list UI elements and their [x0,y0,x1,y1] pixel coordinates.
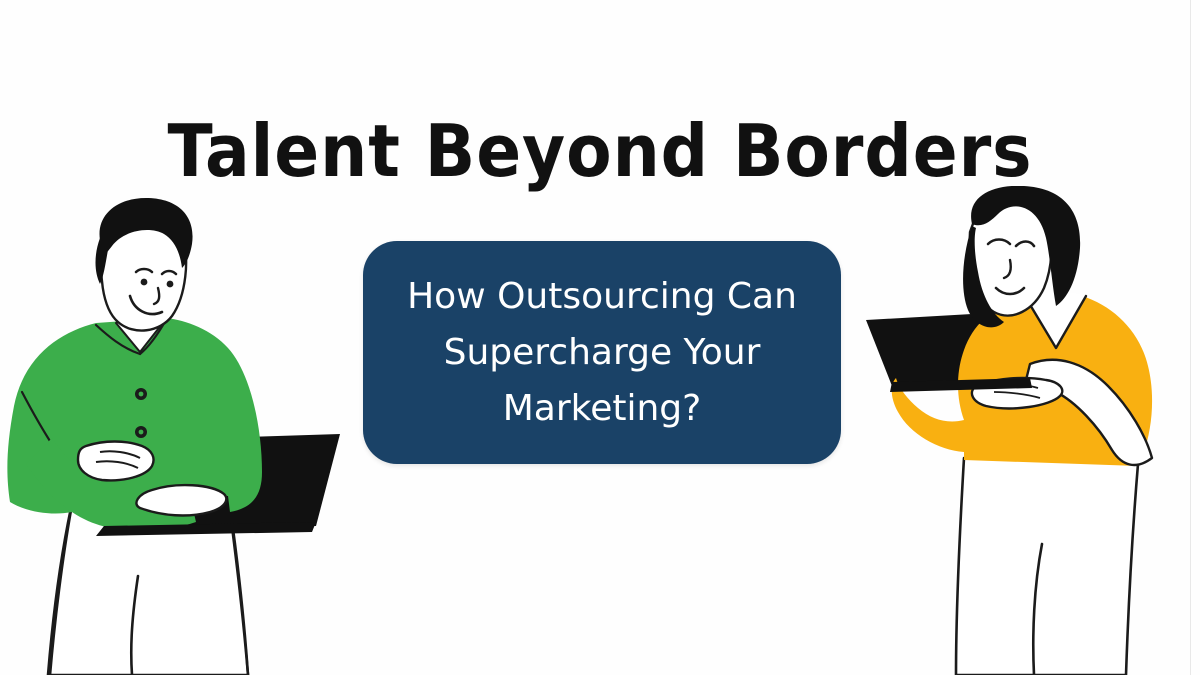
right-edge-divider [1190,0,1191,675]
subtitle-line-2: Supercharge Your [444,325,761,381]
man-head [96,198,193,331]
illustration-man-with-laptop [0,196,360,675]
woman-legs [956,458,1138,675]
page-title: Talent Beyond Borders [48,112,1152,190]
poster-canvas: Talent Beyond Borders How Outsourcing Ca… [0,0,1200,675]
subtitle-card: How Outsourcing Can Supercharge Your Mar… [363,241,841,464]
subtitle-line-3: Marketing? [503,381,702,437]
subtitle-line-1: How Outsourcing Can [407,269,797,325]
illustration-woman-with-laptop [860,186,1200,675]
